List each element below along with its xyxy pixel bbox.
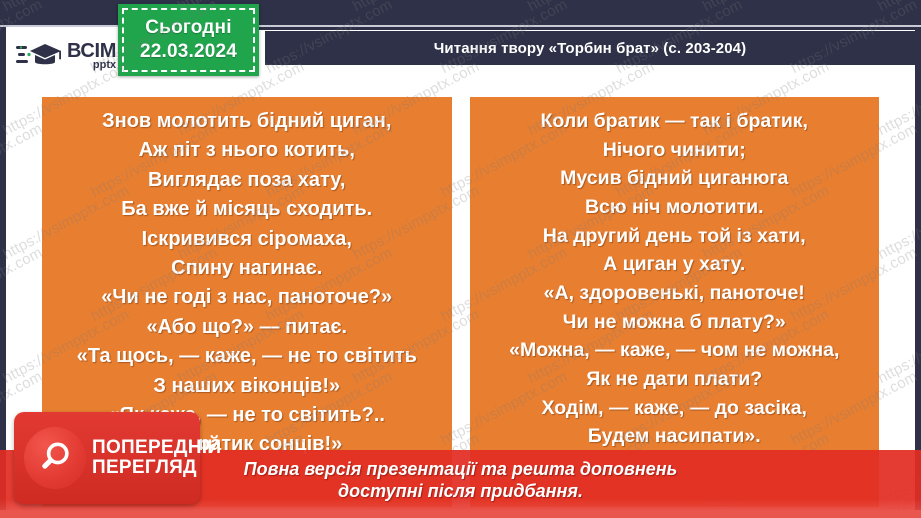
poem-column-right: Коли братик — так і братик,Нічого чинити… xyxy=(470,97,880,507)
banner-foot-strip xyxy=(0,510,921,518)
page-title: Читання твору «Торбин брат» (с. 203-204) xyxy=(434,40,746,57)
poem-line: Ходім, — каже, — до засіка, xyxy=(474,394,876,423)
poem-line: «Або що?» — питає. xyxy=(46,313,448,342)
poem-line: Іскривився сіромаха, xyxy=(46,225,448,254)
poem-line: Мусив бідний циганюга xyxy=(474,164,876,193)
poem-line: Всю ніч молотити. xyxy=(474,193,876,222)
poem-line: Знов молотить бідний циган, xyxy=(46,107,448,136)
poem-line: Як не дати плати? xyxy=(474,365,876,394)
graduation-cap-icon xyxy=(16,39,62,73)
date-badge-value: 22.03.2024 xyxy=(140,41,237,63)
slide-title-bar: Читання твору «Торбин брат» (с. 203-204) xyxy=(265,31,915,65)
poem-line: Коли братик — так і братик, xyxy=(474,107,876,136)
preview-badge-line2: ПЕРЕГЛЯД xyxy=(92,458,221,478)
poem-line: «А, здоровенькі, паноточе! xyxy=(474,279,876,308)
poem-line: На другий день той із хати, xyxy=(474,222,876,251)
poem-line: Будем насипати». xyxy=(474,422,876,451)
poem-line: З наших віконців!» xyxy=(46,372,448,401)
poem-line: «Можна, — каже, — чом не можна, xyxy=(474,336,876,365)
poem-line: Чи не можна б плату?» xyxy=(474,308,876,337)
magnifier-icon xyxy=(24,427,86,489)
poem-line: Спину нагинає. xyxy=(46,254,448,283)
purchase-notice-line2: доступні після придбання. xyxy=(338,480,583,503)
poem-line: «Чи не годі з нас, паноточе?» xyxy=(46,283,448,312)
poem-line: Виглядає поза хату, xyxy=(46,166,448,195)
poem-line: А циган у хату. xyxy=(474,250,876,279)
preview-badge-line1: ПОПЕРЕДНІЙ xyxy=(92,438,221,458)
poem-line: Ба вже й місяць сходить. xyxy=(46,195,448,224)
preview-badge: ПОПЕРЕДНІЙ ПЕРЕГЛЯД xyxy=(14,412,200,504)
brand-wordmark: ВСІМ pptx xyxy=(67,41,116,71)
preview-badge-labels: ПОПЕРЕДНІЙ ПЕРЕГЛЯД xyxy=(92,438,221,478)
poem-line: «Та щось, — каже, — не то світить xyxy=(46,342,448,371)
date-badge: Сьогодні 22.03.2024 xyxy=(118,4,259,76)
poem-line: Аж піт з нього котить, xyxy=(46,136,448,165)
poem-line: Нічого чинити; xyxy=(474,136,876,165)
date-badge-label: Сьогодні xyxy=(145,17,231,39)
slide-root: ВСІМ pptx Сьогодні 22.03.2024 Читання тв… xyxy=(0,0,921,518)
purchase-notice-line1: Повна версія презентації та решта доповн… xyxy=(244,458,678,481)
